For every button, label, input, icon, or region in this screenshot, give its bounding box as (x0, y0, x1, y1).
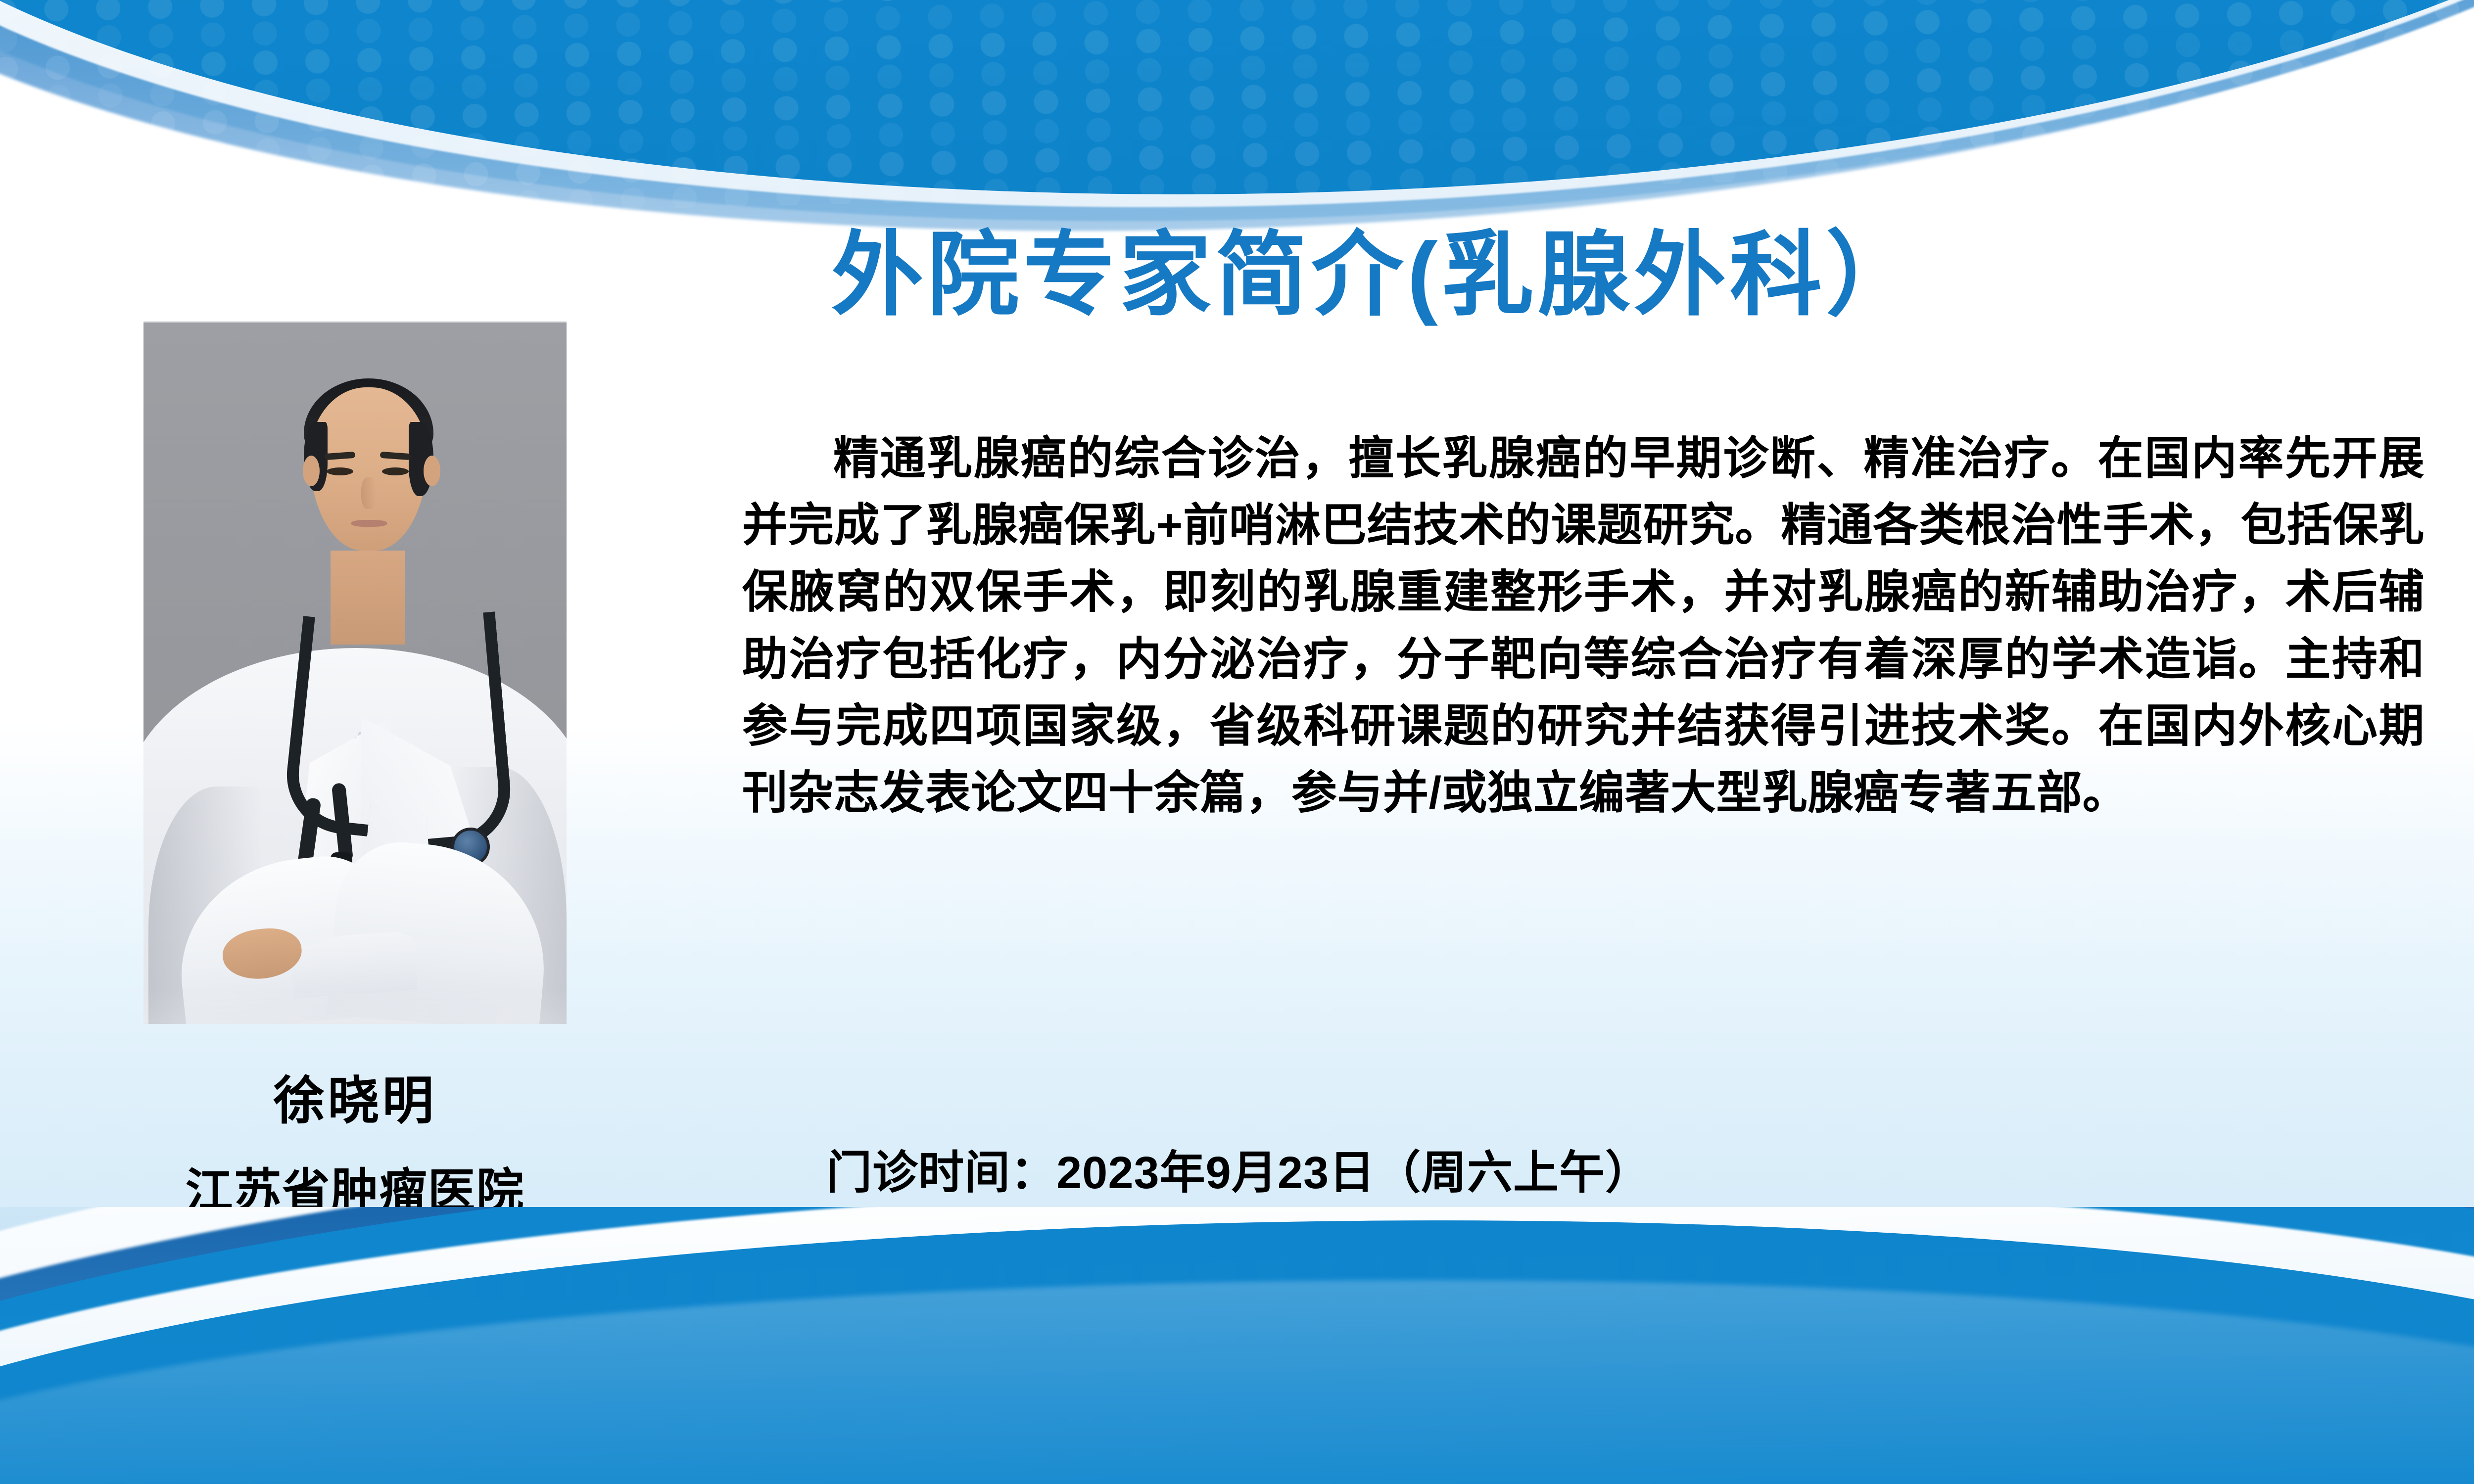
footer-decoration-wrap (0, 1207, 2474, 1484)
mouth (351, 520, 387, 527)
eye-left (327, 467, 353, 475)
nose (361, 477, 376, 509)
page-title: 外院专家简介(乳腺外科） (831, 229, 2415, 323)
appointment-time: 门诊时间：2023年9月23日（周六上午） (826, 1136, 2410, 1202)
ear-left (303, 456, 320, 486)
doctor-name: 徐晓明 (0, 1059, 710, 1133)
poster-canvas: 外院专家简介(乳腺外科） 精通乳腺癌的综合诊治，擅长乳腺癌的早期诊断、精准治疗。… (0, 0, 2474, 1484)
photo-bottom-fade (143, 989, 567, 1024)
eye-right (382, 467, 409, 475)
ear-right (424, 456, 440, 486)
doctor-photo (143, 322, 567, 1024)
biography-paragraph: 精通乳腺癌的综合诊治，擅长乳腺癌的早期诊断、精准治疗。在国内率先开展并完成了乳腺… (742, 425, 2425, 827)
